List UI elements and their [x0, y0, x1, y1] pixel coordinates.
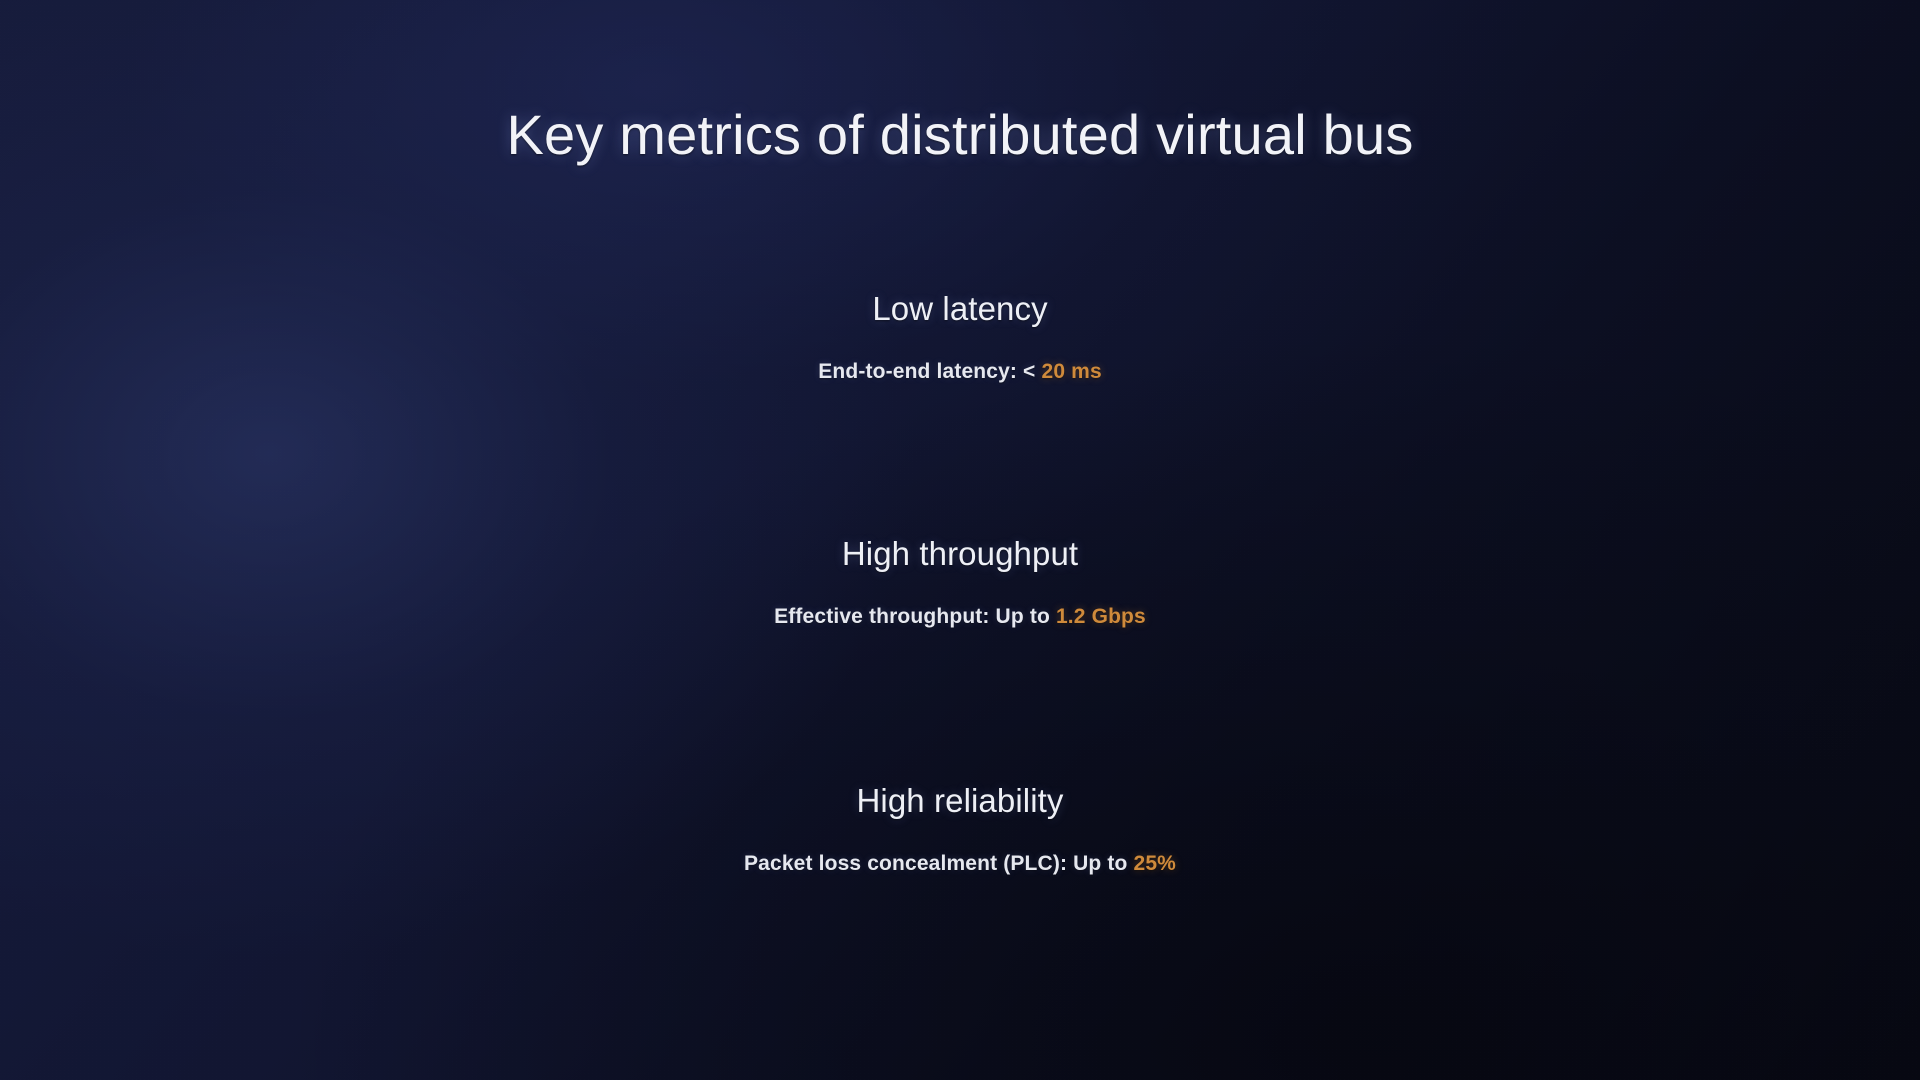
metric-heading-low-latency: Low latency	[0, 290, 1920, 329]
metric-detail-value-high-reliability: 25%	[1134, 852, 1176, 875]
metric-detail-value-high-throughput: 1.2 Gbps	[1056, 605, 1146, 628]
metric-detail-value-low-latency: 20 ms	[1041, 360, 1101, 383]
metric-heading-high-reliability: High reliability	[0, 782, 1920, 821]
metric-detail-label-low-latency: End-to-end latency: <	[818, 360, 1035, 383]
metric-block-low-latency: Low latency End-to-end latency: < 20 ms	[0, 290, 1920, 384]
metric-block-high-reliability: High reliability Packet loss concealment…	[0, 782, 1920, 876]
metric-block-high-throughput: High throughput Effective throughput: Up…	[0, 535, 1920, 629]
metric-heading-high-throughput: High throughput	[0, 535, 1920, 574]
metric-detail-label-high-reliability: Packet loss concealment (PLC): Up to	[744, 852, 1127, 875]
metric-detail-high-throughput: Effective throughput: Up to 1.2 Gbps	[0, 604, 1920, 629]
metric-detail-high-reliability: Packet loss concealment (PLC): Up to 25%	[0, 851, 1920, 876]
slide-title: Key metrics of distributed virtual bus	[0, 104, 1920, 166]
metric-detail-low-latency: End-to-end latency: < 20 ms	[0, 359, 1920, 384]
presentation-slide: Key metrics of distributed virtual bus L…	[0, 0, 1920, 1080]
slide-content: Key metrics of distributed virtual bus L…	[0, 0, 1920, 1080]
metric-detail-label-high-throughput: Effective throughput: Up to	[774, 605, 1050, 628]
